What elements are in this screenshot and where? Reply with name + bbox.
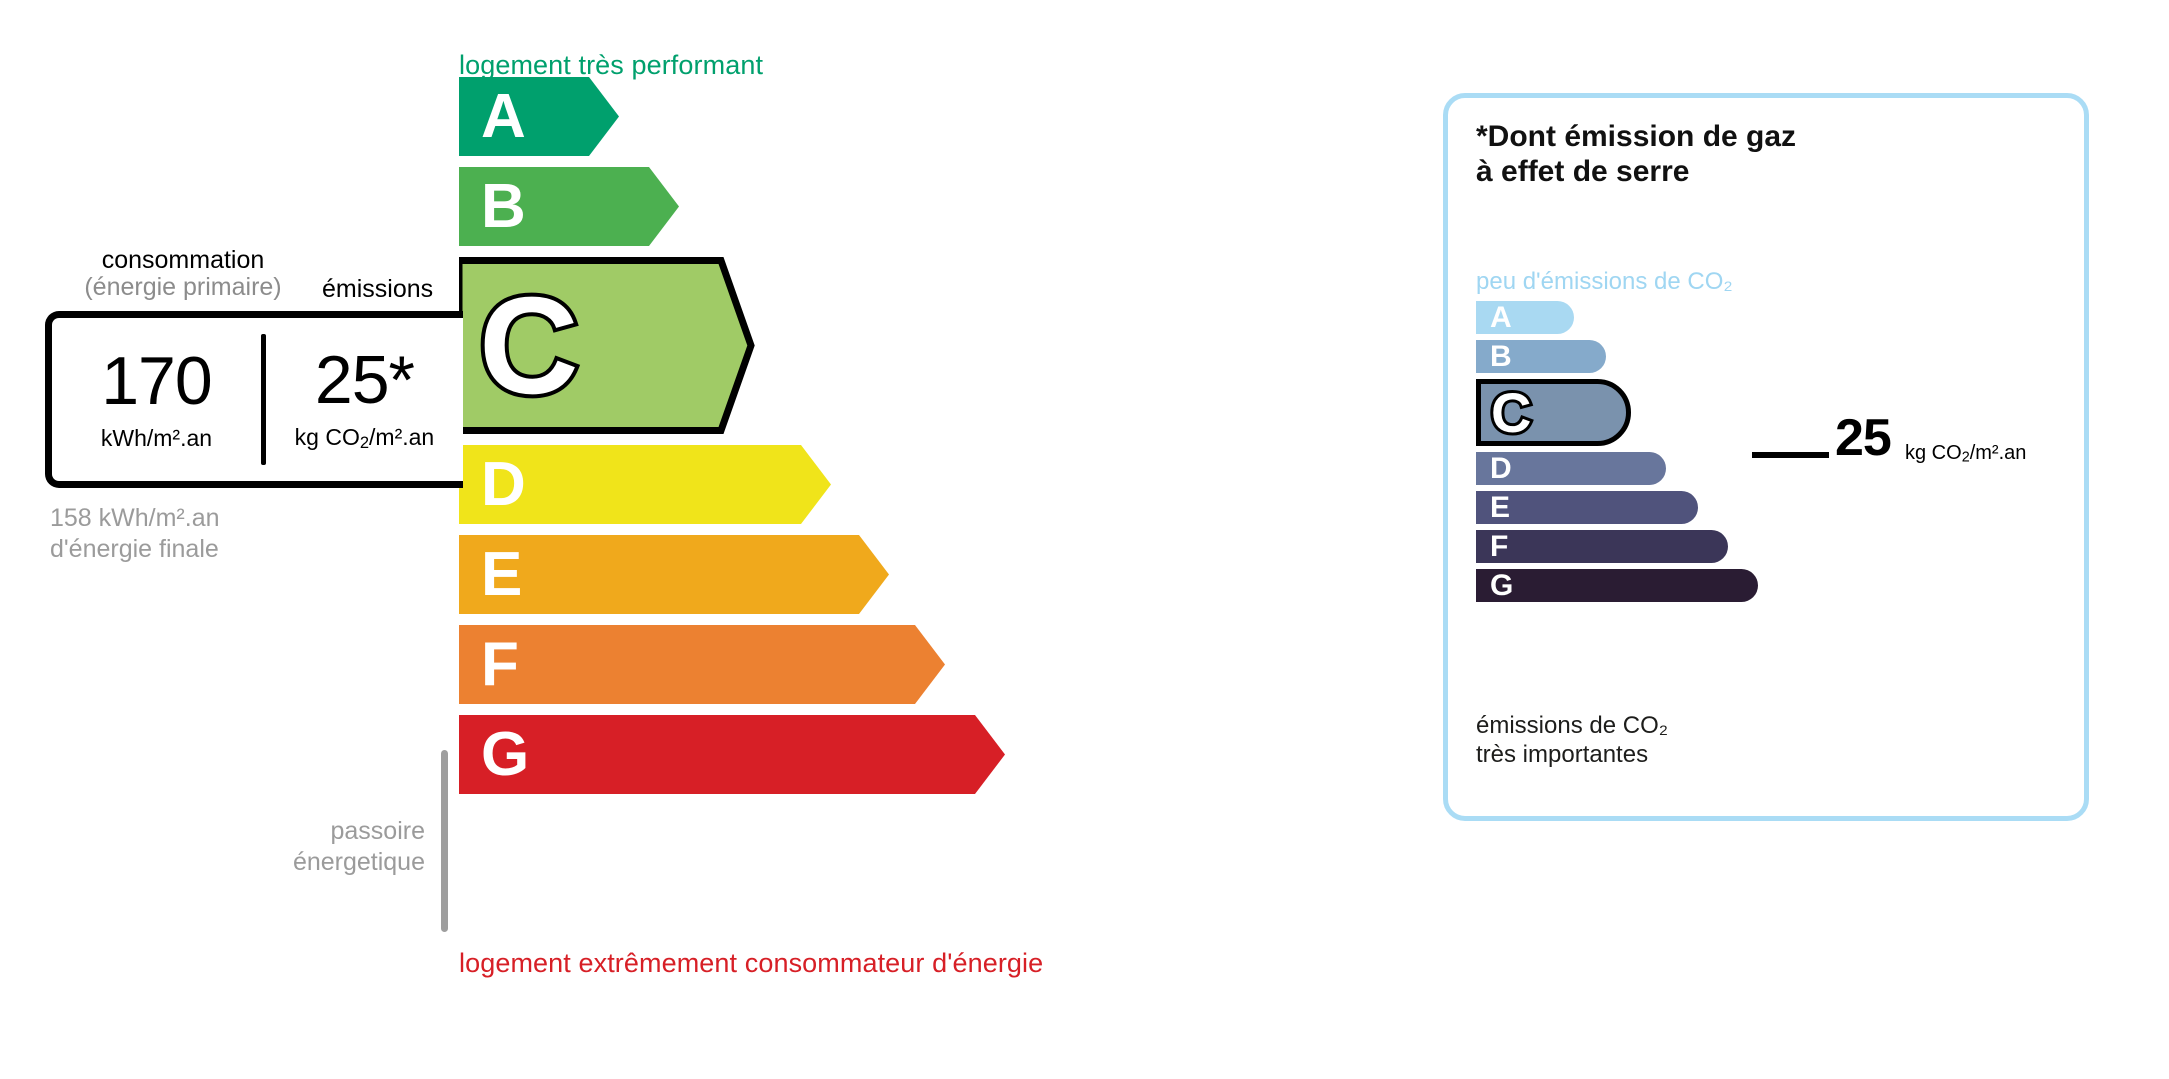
value-card: 170 kWh/m².an 25* kg CO2/m².an xyxy=(45,311,463,488)
primary-energy-value: 170 xyxy=(101,347,211,415)
energy-band-letter: B xyxy=(481,176,526,238)
energy-band-letter: G xyxy=(481,724,529,786)
energy-band-letter: F xyxy=(481,634,519,696)
primary-energy-unit: kWh/m².an xyxy=(101,425,212,452)
energy-band-list: A B C D xyxy=(459,77,1259,805)
final-energy-line1: 158 kWh/m².an xyxy=(50,503,220,534)
emissions-label: émissions xyxy=(322,275,433,304)
co2-bar-letter: B xyxy=(1490,342,1512,372)
energy-band-letter: C xyxy=(479,277,579,415)
energy-band-letter: E xyxy=(481,544,522,606)
co2-top-caption: peu d'émissions de CO₂ xyxy=(1476,268,1733,296)
co2-bar-b[interactable]: B xyxy=(1476,340,1606,373)
energy-band-b[interactable]: B xyxy=(459,167,1259,246)
co2-bar-a[interactable]: A xyxy=(1476,301,1574,334)
emissions-unit: kg CO2/m².an xyxy=(295,424,435,453)
energy-band-letter: D xyxy=(481,454,526,516)
emissions-value: 25* xyxy=(315,346,414,414)
co2-leader-line xyxy=(1752,452,1829,458)
co2-bar-f[interactable]: F xyxy=(1476,530,1728,563)
energy-band-f[interactable]: F xyxy=(459,625,1259,704)
co2-bar-e[interactable]: E xyxy=(1476,491,1698,524)
energy-scale-panel: logement très performant A B C xyxy=(0,0,1360,1079)
energy-bottom-caption: logement extrêmement consommateur d'éner… xyxy=(459,948,1043,979)
consumption-label-main: consommation xyxy=(48,247,318,274)
passoire-label: passoire énergetique xyxy=(180,816,425,879)
band-arrow-e-icon xyxy=(459,535,1259,614)
passoire-bracket xyxy=(441,750,448,932)
co2-bar-letter: E xyxy=(1490,493,1510,523)
energy-band-letter: A xyxy=(481,86,526,148)
energy-band-c-selected[interactable]: C xyxy=(459,257,1259,434)
co2-bottom-line1: émissions de CO₂ xyxy=(1476,712,1668,741)
energy-band-a[interactable]: A xyxy=(459,77,1259,156)
passoire-line1: passoire xyxy=(180,816,425,847)
primary-energy-cell: 170 kWh/m².an xyxy=(52,318,261,481)
consumption-label-sub: (énergie primaire) xyxy=(48,274,318,301)
co2-title-line1: *Dont émission de gaz xyxy=(1476,120,1796,155)
co2-bottom-line2: très importantes xyxy=(1476,741,1668,770)
consumption-label: consommation (énergie primaire) xyxy=(48,247,318,301)
co2-bar-letter: A xyxy=(1490,303,1512,333)
emissions-cell: 25* kg CO2/m².an xyxy=(266,318,463,481)
co2-bar-letter: G xyxy=(1490,571,1513,601)
co2-value: 25 xyxy=(1835,412,1891,464)
co2-bar-g[interactable]: G xyxy=(1476,569,1758,602)
band-arrow-f-icon xyxy=(459,625,1259,704)
energy-band-g[interactable]: G xyxy=(459,715,1259,794)
energy-band-d[interactable]: D xyxy=(459,445,1259,524)
final-energy-note: 158 kWh/m².an d'énergie finale xyxy=(50,503,220,566)
passoire-line2: énergetique xyxy=(180,847,425,878)
co2-bar-c-selected[interactable]: C xyxy=(1476,379,1631,446)
band-arrow-c-icon xyxy=(459,257,1259,434)
band-arrow-b-icon xyxy=(459,167,1259,246)
dpe-diagram: logement très performant A B C xyxy=(0,0,2169,1079)
co2-bottom-caption: émissions de CO₂ très importantes xyxy=(1476,712,1668,770)
final-energy-line2: d'énergie finale xyxy=(50,534,220,565)
co2-bar-letter: F xyxy=(1490,532,1508,562)
co2-bar-d[interactable]: D xyxy=(1476,452,1666,485)
co2-title-line2: à effet de serre xyxy=(1476,155,1796,190)
co2-bar-letter: C xyxy=(1491,385,1531,441)
energy-band-e[interactable]: E xyxy=(459,535,1259,614)
band-arrow-a-icon xyxy=(459,77,1259,156)
co2-value-unit: kg CO2/m².an xyxy=(1905,442,2026,466)
co2-panel-title: *Dont émission de gaz à effet de serre xyxy=(1476,120,1796,189)
band-arrow-d-icon xyxy=(459,445,1259,524)
co2-bar-letter: D xyxy=(1490,454,1512,484)
band-arrow-g-icon xyxy=(459,715,1259,794)
